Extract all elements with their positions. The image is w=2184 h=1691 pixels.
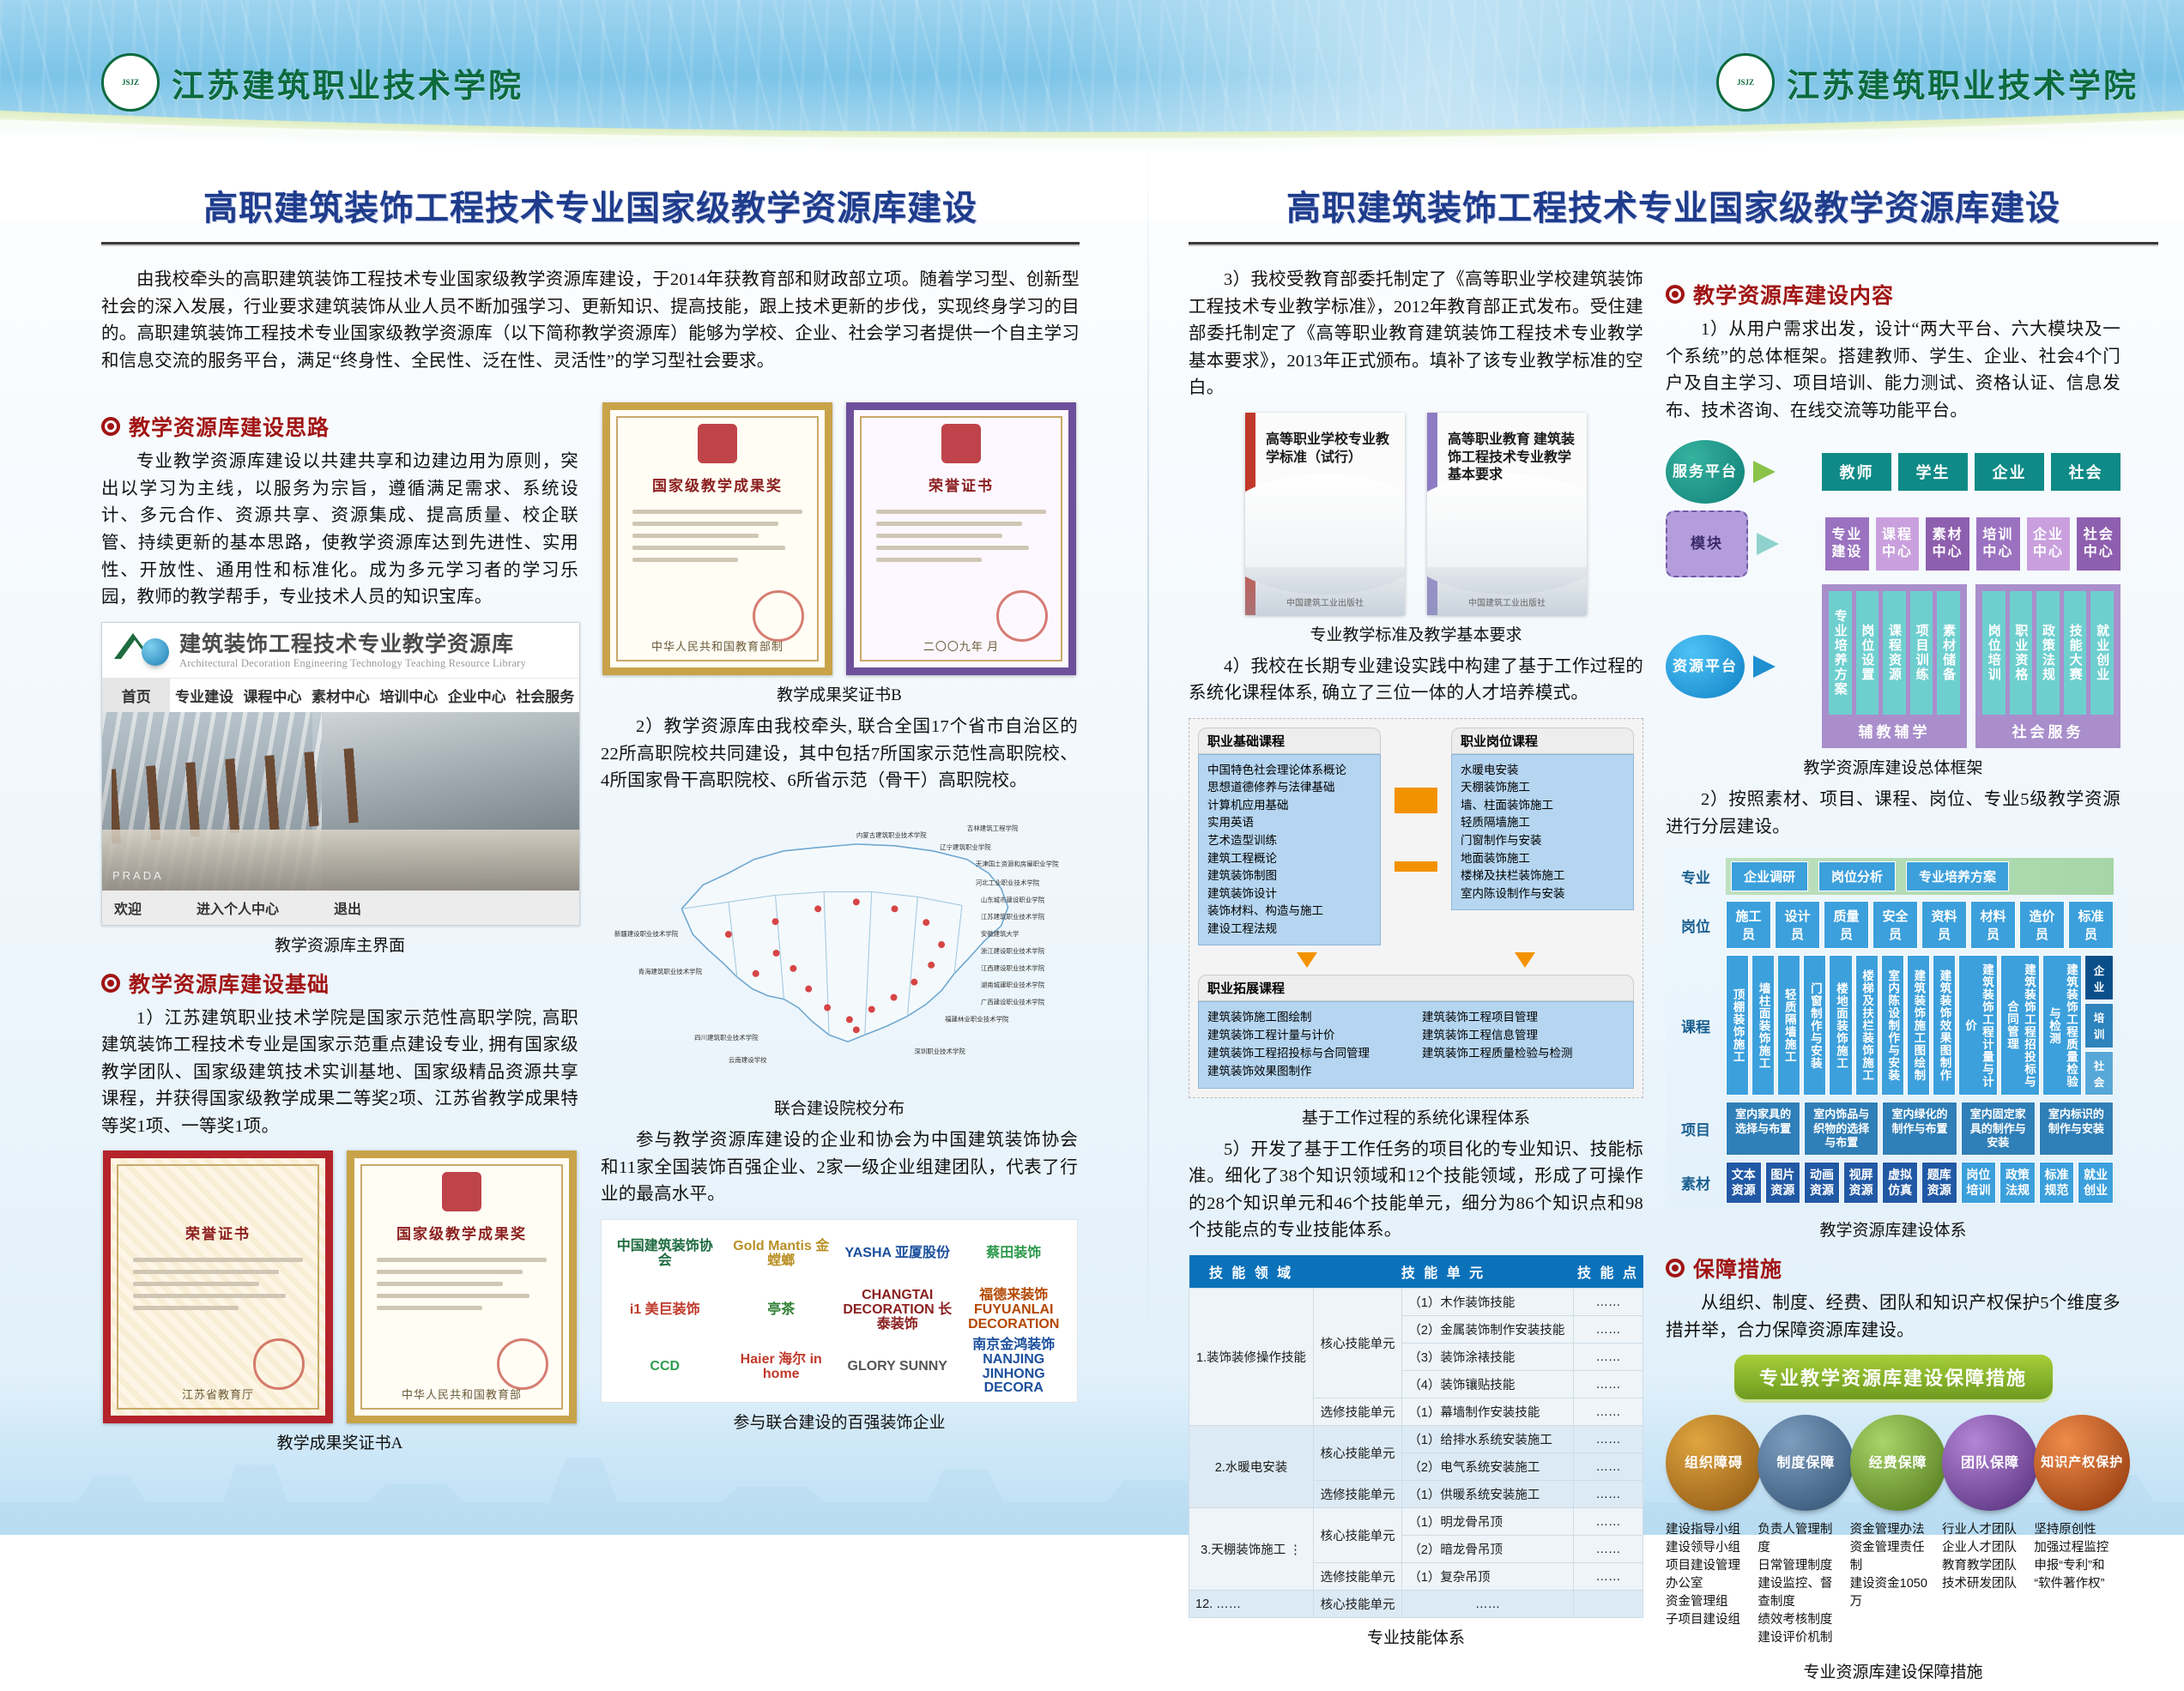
section-heading-content: 教学资源库建设内容: [1666, 279, 2120, 310]
portal-title: 建筑装饰工程技术专业教学资源库: [179, 633, 526, 657]
p5-paragraph: 5）开发了基于工作任务的项目化的专业知识、技能标准。细化了38个知识领域和12个…: [1189, 1137, 1643, 1245]
svg-text:广西建设职业技术学院: 广西建设职业技术学院: [981, 997, 1045, 1006]
course-ext-title: 职业拓展课程: [1198, 975, 1634, 1001]
framework-row-modules: 模块 专业建设 课程中心 素材中心 培训中心 企业中心 社会中心: [1666, 510, 2120, 577]
course-item: 建筑装饰工程项目管理: [1422, 1009, 1624, 1027]
band-cell: 就业创业: [2090, 591, 2114, 715]
section-title-text: 教学资源库建设思路: [129, 411, 330, 442]
project-cell: 室内标识的制作与安装: [2039, 1102, 2114, 1156]
right-col-1: 3）我校受教育部委托制定了《高等职业学校建筑装饰工程技术专业教学标准》，2012…: [1189, 267, 1643, 1691]
section3-body: 2）教学资源库由我校牵头, 联合全国17个省市自治区的22所高职院校共同建设，其…: [601, 714, 1078, 795]
guarantee-caption: 专业资源库建设保障措施: [1666, 1659, 2120, 1682]
course-cell: 墙柱面装饰施工: [1751, 955, 1775, 1096]
course-cell: 楼梯及扶栏装饰施工: [1855, 955, 1878, 1096]
bc-label-major: 专业: [1673, 866, 1719, 887]
svg-text:福建林业职业技术学院: 福建林业职业技术学院: [945, 1014, 1009, 1023]
side-tab: 企业: [2084, 955, 2114, 1000]
portal-nav[interactable]: 首页 专业建设 课程中心 素材中心 培训中心 企业中心 社会服务: [102, 678, 579, 712]
skill-point: （2）电气系统安装施工: [1402, 1453, 1574, 1481]
book-title: 高等职业学校专业教学标准（试行）: [1266, 432, 1394, 468]
arrow-down-icon: [1515, 952, 1535, 968]
book-publisher: 中国建筑工业出版社: [1245, 595, 1405, 608]
certificate-row-b: 国家级教学成果奖 中华人民共和国教育部制 荣誉证书 二〇〇九年 月: [601, 402, 1078, 675]
course-cell: 建筑装饰施工图绘制: [1907, 955, 1930, 1096]
bullseye-icon-2: [101, 974, 120, 993]
svg-text:江西建设职业技术学院: 江西建设职业技术学院: [981, 963, 1045, 972]
material-cell: 虚拟仿真: [1882, 1162, 1918, 1204]
guarantee-item: 制度保障 负责人管理制度 日常管理制度 建设监控、督查制度 绩效考核制度 建设评…: [1757, 1415, 1844, 1647]
skill-point: （1）复杂吊顶: [1402, 1563, 1574, 1591]
certificate-a-caption: 教学成果奖证书A: [101, 1430, 578, 1453]
skills-th-field: 技 能 领 域: [1189, 1255, 1314, 1289]
guarantee-line: 企业人才团队: [1942, 1539, 2029, 1557]
svg-text:新疆建设职业技术学院: 新疆建设职业技术学院: [614, 929, 679, 938]
arrow-lr-icon: [1394, 861, 1437, 872]
nav-item-major[interactable]: 专业建设: [170, 679, 238, 712]
bc-row-material: 素材 文本资源 图片资源 动画资源 视屏资源 虚拟仿真 题库资源 岗位培训 政策…: [1673, 1162, 2114, 1204]
skill-dots: ……: [1574, 1536, 1643, 1563]
certificate-title: 荣誉证书: [854, 474, 1068, 495]
skill-unit: 核心技能单元: [1313, 1508, 1401, 1563]
guarantee-line: 日常管理制度: [1757, 1557, 1844, 1575]
course-cell: 建筑装饰效果图制作: [1933, 955, 1956, 1096]
course-item: 艺术造型训练: [1207, 832, 1373, 850]
partner-logo: i1 美巨装饰: [610, 1287, 720, 1335]
svg-text:河北工业职业技术学院: 河北工业职业技术学院: [976, 878, 1040, 886]
guarantee-line: 资金管理办法: [1850, 1521, 1937, 1539]
course-group-title: 职业基础课程: [1198, 728, 1381, 754]
partners-body: 参与教学资源库建设的企业和协会为中国建筑装饰协会和11家全国装饰百强企业、2家一…: [601, 1127, 1078, 1209]
side-tab: 社会: [2084, 1051, 2114, 1096]
course-item: 建设工程法规: [1207, 921, 1373, 939]
material-cell-right: 政策法规: [1999, 1162, 2036, 1204]
certificate-signature: 中华人民共和国教育部: [354, 1386, 569, 1402]
school-name-right: 江苏建筑职业技术学院: [1787, 59, 2139, 106]
framework-caption: 教学资源库建设总体框架: [1666, 755, 2120, 778]
partner-logo: 蔡田装饰: [959, 1230, 1069, 1278]
skill-point: ……: [1402, 1591, 1574, 1618]
left-columns: 教学资源库建设思路 专业教学资源库建设以共建共享和边建边用为原则，突出以学习为主…: [101, 399, 1080, 1462]
framework-diagram: 服务平台 教师 学生 企业 社会 模块 专业建设 课程中心 素材中: [1666, 435, 2120, 748]
partner-logo: CCD: [610, 1344, 720, 1392]
skill-dots: ……: [1574, 1563, 1643, 1591]
intro-paragraph: 由我校牵头的高职建筑装饰工程技术专业国家级教学资源库建设，于2014年获教育部和…: [101, 267, 1080, 375]
guarantee-line: 建设指导小组: [1666, 1521, 1752, 1539]
book-cover: 高等职业教育 建筑装饰工程技术专业教学基本要求 中国建筑工业出版社: [1427, 413, 1587, 615]
material-cell: 动画资源: [1804, 1162, 1840, 1204]
course-item: 墙、柱面装饰施工: [1461, 797, 1626, 815]
guarantee-line: 建设资金1050万: [1850, 1575, 1937, 1611]
course-item: 装饰材料、构造与施工: [1207, 903, 1373, 921]
map-caption: 联合建设院校分布: [601, 1096, 1078, 1119]
guarantee-section-title: 保障措施: [1693, 1253, 1782, 1283]
certificate-title: 国家级教学成果奖: [610, 474, 825, 495]
course-cell: 轻质隔墙施工: [1777, 955, 1800, 1096]
module-cell: 专业建设: [1825, 517, 1869, 571]
material-cell: 题库资源: [1921, 1162, 1957, 1204]
skill-dots: ……: [1574, 1344, 1643, 1371]
bc-label-course: 课程: [1673, 1015, 1719, 1036]
guarantee-ball: 知识产权保护: [2034, 1415, 2130, 1511]
course-list-post: 水暖电安装 天棚装饰施工 墙、柱面装饰施工 轻质隔墙施工 门窗制作与安装 地面装…: [1451, 754, 1634, 910]
p3-paragraph: 3）我校受教育部委托制定了《高等职业学校建筑装饰工程技术专业教学标准》，2012…: [1189, 267, 1643, 402]
skill-point: （1）木作装饰技能: [1402, 1289, 1574, 1316]
course-item: 计算机应用基础: [1207, 797, 1373, 815]
post-cell: 标准员: [2068, 901, 2114, 949]
guarantee-lines: 行业人才团队 企业人才团队 教育教学团队 技术研发团队: [1942, 1521, 2029, 1593]
project-cell: 室内固定家具的制作与安装: [1961, 1102, 2036, 1156]
framework-tag-resource: 资源平台: [1666, 635, 1745, 698]
nav-item-material[interactable]: 素材中心: [306, 679, 374, 712]
course-item: 室内陈设制作与安装: [1461, 885, 1626, 903]
svg-text:四川建筑职业技术学院: 四川建筑职业技术学院: [694, 1033, 759, 1042]
skill-dots: ……: [1574, 1316, 1643, 1344]
arrow-right-icon: [1757, 533, 1817, 555]
skill-unit: 选修技能单元: [1313, 1398, 1401, 1426]
course-cell: 顶棚装饰施工: [1726, 955, 1749, 1096]
arrow-right-icon: [1753, 655, 1813, 678]
bullseye-icon-4: [1666, 1259, 1685, 1277]
band-cell: 课程资源: [1883, 591, 1906, 715]
right-col-2: 教学资源库建设内容 1）从用户需求出发，设计“两大平台、六大模块及一个系统”的总…: [1666, 267, 2120, 1691]
course-caption: 基于工作过程的系统化课程体系: [1189, 1105, 1643, 1128]
skill-point: （1）供暖系统安装施工: [1402, 1481, 1574, 1508]
guarantee-line: 资金管理责任制: [1850, 1539, 1937, 1575]
guarantee-lines: 负责人管理制度 日常管理制度 建设监控、督查制度 绩效考核制度 建设评价机制: [1757, 1521, 1844, 1647]
china-map: 新疆建设职业技术学院 青海建筑职业技术学院 内蒙古建筑职业技术学院 辽宁建筑职业…: [601, 806, 1078, 1089]
svg-text:青海建筑职业技术学院: 青海建筑职业技术学院: [638, 967, 703, 975]
skill-point: （3）装饰涂裱技能: [1402, 1344, 1574, 1371]
band-cell: 项目训练: [1910, 591, 1933, 715]
project-cell: 室内绿化的制作与布置: [1882, 1102, 1957, 1156]
guarantee-line: 坚持原创性: [2034, 1521, 2120, 1539]
skill-unit: 选修技能单元: [1313, 1481, 1401, 1508]
nav-item-social[interactable]: 社会服务: [511, 679, 579, 712]
flow-step: 专业培养方案: [1906, 861, 2009, 891]
skill-unit: 选修技能单元: [1313, 1563, 1401, 1591]
partner-logo: CHANGTAI DECORATION 长泰装饰: [843, 1287, 953, 1335]
project-cell: 室内饰品与织物的选择与布置: [1804, 1102, 1878, 1156]
course-item: 中国特色社会理论体系概论: [1207, 762, 1373, 780]
skills-table: 技 能 领 域 技 能 单 元 技 能 点 1.装饰装修操作技能 核心技能单元 …: [1189, 1255, 1643, 1618]
bullseye-icon: [101, 417, 120, 436]
side-tab: 培训: [2084, 1003, 2114, 1048]
fr-p3: 从组织、制度、经费、团队和知识产权保护5个维度多措并举，合力保障资源库建设。: [1666, 1290, 2120, 1344]
course-item: 建筑装饰工程质量检验与检测: [1422, 1045, 1624, 1063]
national-emblem-icon: [698, 424, 737, 463]
material-cell-right: 标准规范: [2039, 1162, 2075, 1204]
partner-logo: 亭茶: [727, 1287, 837, 1335]
guarantee-item: 知识产权保护 坚持原创性 加强过程监控 申报“专利”和 “软件著作权”: [2034, 1415, 2120, 1647]
portal-caption: 教学资源库主界面: [101, 933, 578, 956]
module-cells: 专业建设 课程中心 素材中心 培训中心 企业中心 社会中心: [1825, 517, 2120, 571]
title-rule-right: [1189, 242, 2158, 245]
material-cell: 图片资源: [1765, 1162, 1801, 1204]
band-cell: 岗位培训: [1982, 591, 2006, 715]
course-cell: 建筑装饰工程计量与计价: [1958, 955, 1998, 1096]
material-cell: 文本资源: [1726, 1162, 1762, 1204]
section-heading-build-approach: 教学资源库建设思路: [101, 411, 578, 442]
china-map-svg: 新疆建设职业技术学院 青海建筑职业技术学院 内蒙古建筑职业技术学院 辽宁建筑职业…: [601, 806, 1078, 1089]
skill-dots: ……: [1574, 1426, 1643, 1453]
course-item: 建筑装饰制图: [1207, 867, 1373, 885]
footer-logout[interactable]: 退出: [334, 897, 361, 918]
portal-logo-icon: [114, 631, 169, 673]
partner-logo: GLORY SUNNY: [843, 1344, 953, 1392]
guarantee-line: 教育教学团队: [1942, 1557, 2029, 1575]
material-cell: 视屏资源: [1843, 1162, 1879, 1204]
section2-body: 1）江苏建筑职业技术学院是国家示范性高职学院, 高职建筑装饰工程技术专业是国家示…: [101, 1006, 578, 1141]
national-emblem-icon: [941, 424, 981, 463]
section2-title-text: 教学资源库建设基础: [129, 968, 330, 999]
bullseye-icon-3: [1666, 285, 1685, 304]
portal-footer[interactable]: 欢迎 进入个人中心 退出: [102, 891, 579, 925]
material-cell-right: 岗位培训: [1961, 1162, 1997, 1204]
guarantee-bar: 专业教学资源库建设保障措施: [1734, 1355, 2053, 1399]
course-cell: 门窗制作与安装: [1803, 955, 1826, 1096]
books-caption: 专业教学标准及教学基本要求: [1189, 622, 1643, 645]
band-social: 岗位培训 职业资格 政策法规 技能大赛 就业创业 社会服务: [1975, 584, 2120, 748]
certificate-row-a: 荣誉证书 江苏省教育厅 国家级教学成果奖 中华人民共和国教育部: [101, 1150, 578, 1423]
logo-wall-caption: 参与联合建设的百强装饰企业: [601, 1410, 1078, 1433]
svg-text:江苏建筑职业技术学院: 江苏建筑职业技术学院: [981, 912, 1045, 921]
guarantee-line: 资金管理组: [1666, 1593, 1752, 1611]
school-emblem-text-right: JSJZ: [1737, 79, 1754, 87]
national-emblem-icon: [442, 1172, 481, 1211]
svg-text:吉林建筑工程学院: 吉林建筑工程学院: [967, 824, 1019, 832]
certificate-title: 荣誉证书: [111, 1222, 325, 1243]
module-cell: 培训中心: [1976, 517, 2020, 571]
post-cell: 安全员: [1872, 901, 1918, 949]
table-row: 3.天棚装饰施工 ⋮ 核心技能单元 （1）明龙骨吊顶 ……: [1189, 1508, 1643, 1536]
skill-field: 2.水暖电安装: [1189, 1426, 1314, 1508]
course-item: 轻质隔墙施工: [1461, 814, 1626, 832]
course-item: 建筑工程概论: [1207, 850, 1373, 868]
right-panel: 高职建筑装饰工程技术专业国家级教学资源库建设 3）我校受教育部委托制定了《高等职…: [1189, 180, 2158, 1691]
bc-row-course: 课程 顶棚装饰施工 墙柱面装饰施工 轻质隔墙施工 门窗制作与安装 楼地面装饰施工…: [1673, 955, 2114, 1096]
svg-text:深圳职业技术学院: 深圳职业技术学院: [914, 1047, 965, 1055]
arrow-down-icon: [1297, 952, 1317, 968]
guarantee-line: 加强过程监控: [2034, 1539, 2120, 1557]
guarantee-ball: 团队保障: [1942, 1415, 2038, 1511]
portal-header: 建筑装饰工程技术专业教学资源库 Architectural Decoration…: [102, 623, 579, 678]
post-cell: 资料员: [1921, 901, 1967, 949]
svg-text:安徽建筑大学: 安徽建筑大学: [981, 929, 1019, 938]
svg-text:辽宁建筑职业学院: 辽宁建筑职业学院: [940, 842, 991, 851]
guarantee-item: 组织障碍 建设指导小组 建设领导小组 项目建设管理办公室 资金管理组 子项目建设…: [1666, 1415, 1752, 1647]
book-publisher: 中国建筑工业出版社: [1427, 595, 1587, 608]
skill-point: （2）金属装饰制作安装技能: [1402, 1316, 1574, 1344]
svg-text:山东城市建设职业学院: 山东城市建设职业学院: [981, 895, 1045, 903]
certificate-card: 国家级教学成果奖 中华人民共和国教育部制: [602, 402, 832, 675]
course-cell: 建筑装饰工程质量检验与检测: [2042, 955, 2082, 1096]
course-item: 实用英语: [1207, 814, 1373, 832]
down-arrows: [1198, 952, 1634, 968]
certificate-signature: 二〇〇九年 月: [854, 637, 1068, 654]
nav-item-home[interactable]: 首页: [102, 679, 170, 712]
module-cell: 企业中心: [2027, 517, 2071, 571]
column-divider: [1147, 129, 1149, 1347]
framework-tag-module: 模块: [1666, 510, 1748, 577]
svg-text:浙江建设职业技术学院: 浙江建设职业技术学院: [981, 946, 1045, 955]
nav-item-course[interactable]: 课程中心: [239, 679, 306, 712]
post-cell: 造价员: [2019, 901, 2065, 949]
band-cell: 素材储备: [1937, 591, 1960, 715]
table-row: 1.装饰装修操作技能 核心技能单元 （1）木作装饰技能 ……: [1189, 1289, 1643, 1316]
footer-welcome: 欢迎: [114, 897, 142, 918]
bc-row-major: 专业 企业调研 岗位分析 专业培养方案: [1673, 858, 2114, 895]
guarantee-lines: 坚持原创性 加强过程监控 申报“专利”和 “软件著作权”: [2034, 1521, 2120, 1593]
course-group-title: 职业岗位课程: [1451, 728, 1634, 754]
course-cell: 建筑装饰工程招投标与合同管理: [2000, 955, 2040, 1096]
book-cover: 高等职业学校专业教学标准（试行） 中国建筑工业出版社: [1245, 413, 1405, 615]
certificate-card: 荣誉证书 江苏省教育厅: [103, 1150, 333, 1423]
course-item: 楼梯及扶栏装饰施工: [1461, 867, 1626, 885]
svg-text:云南建设学校: 云南建设学校: [729, 1055, 767, 1064]
school-logo-left: JSJZ 江苏建筑职业技术学院: [101, 53, 523, 112]
course-item: 建筑装饰效果图制作: [1207, 1063, 1410, 1081]
skill-field: 3.天棚装饰施工 ⋮: [1189, 1508, 1314, 1591]
skill-point: （1）幕墙制作安装技能: [1402, 1398, 1574, 1426]
poster-title-right: 高职建筑装饰工程技术专业国家级教学资源库建设: [1189, 180, 2158, 230]
portal-cells: 教师 学生 企业 社会: [1822, 453, 2120, 491]
guarantee-line: 建设评价机制: [1757, 1629, 1844, 1647]
hero-brand-sign: PRADA: [112, 869, 164, 882]
certificate-card: 国家级教学成果奖 中华人民共和国教育部: [347, 1150, 577, 1423]
certificate-signature: 江苏省教育厅: [111, 1386, 325, 1402]
skill-dots: [1574, 1591, 1643, 1618]
framework-tag-service: 服务平台: [1666, 440, 1745, 504]
course-item: 建筑装饰工程信息管理: [1422, 1027, 1624, 1045]
flow-step: 企业调研: [1731, 861, 1808, 891]
certificate-signature: 中华人民共和国教育部制: [610, 637, 825, 654]
project-cell: 室内家具的选择与布置: [1726, 1102, 1800, 1156]
course-item: 水暖电安装: [1461, 762, 1626, 780]
right-columns: 3）我校受教育部委托制定了《高等职业学校建筑装饰工程技术专业教学标准》，2012…: [1189, 267, 2158, 1691]
title-rule-left: [101, 242, 1080, 245]
bc-row-project: 项目 室内家具的选择与布置 室内饰品与织物的选择与布置 室内绿化的制作与布置 室…: [1673, 1102, 2114, 1156]
svg-text:天津国土资源和房屋职业学院: 天津国土资源和房屋职业学院: [976, 860, 1059, 868]
certificate-title: 国家级教学成果奖: [354, 1222, 569, 1243]
guarantee-line: 技术研发团队: [1942, 1575, 2029, 1593]
skills-th-unit: 技 能 单 元: [1313, 1255, 1573, 1289]
band-cell: 技能大赛: [2064, 591, 2087, 715]
poster-title-left: 高职建筑装饰工程技术专业国家级教学资源库建设: [101, 180, 1080, 230]
guarantee-lines: 资金管理办法 资金管理责任制 建设资金1050万: [1850, 1521, 1937, 1611]
band-cell: 专业培养方案: [1829, 591, 1852, 715]
school-name-left: 江苏建筑职业技术学院: [172, 59, 523, 106]
bc-label-post: 岗位: [1673, 915, 1719, 936]
nav-item-training[interactable]: 培训中心: [375, 679, 443, 712]
course-item: 建筑装饰工程招投标与合同管理: [1207, 1045, 1410, 1063]
guarantee-balls: 组织障碍 建设指导小组 建设领导小组 项目建设管理办公室 资金管理组 子项目建设…: [1666, 1415, 2120, 1647]
guarantee-ball: 经费保障: [1850, 1415, 1946, 1511]
partner-logo: 中国建筑装饰协会: [610, 1230, 720, 1278]
guarantee-line: 建设监控、督查制度: [1757, 1575, 1844, 1611]
skill-point: （1）给排水系统安装施工: [1402, 1426, 1574, 1453]
partner-logo: Gold Mantis 金螳螂: [727, 1230, 837, 1278]
standards-books: 高等职业学校专业教学标准（试行） 中国建筑工业出版社 高等职业教育 建筑装饰工程…: [1189, 413, 1643, 615]
section-heading-build-basis: 教学资源库建设基础: [101, 968, 578, 999]
course-cell: 室内陈设制作与安装: [1881, 955, 1904, 1096]
svg-text:湖南城建职业技术学院: 湖南城建职业技术学院: [981, 981, 1045, 989]
section-heading-guarantee: 保障措施: [1666, 1253, 2120, 1283]
course-ext-col2: 建筑装饰工程项目管理 建筑装饰工程信息管理 建筑装饰工程质量检验与检测: [1422, 1009, 1624, 1081]
portal-cell: 学生: [1898, 453, 1968, 491]
school-emblem-icon: JSJZ: [101, 53, 160, 112]
guarantee-item: 经费保障 资金管理办法 资金管理责任制 建设资金1050万: [1850, 1415, 1937, 1647]
resource-hierarchy-diagram: 专业 企业调研 岗位分析 专业培养方案 岗位 施工员 设计员 质量员 安全员 资…: [1666, 851, 2120, 1211]
table-row: 12. …… 核心技能单元 ……: [1189, 1591, 1643, 1618]
bidirectional-arrows: [1394, 728, 1437, 872]
section1-body: 专业教学资源库建设以共建共享和边建边用为原则，突出以学习为主线，以服务为宗旨，遵…: [101, 449, 578, 611]
course-item: 建筑装饰施工图绘制: [1207, 1009, 1410, 1027]
portal-cell: 社会: [2051, 453, 2120, 491]
guarantee-line: 项目建设管理办公室: [1666, 1557, 1752, 1593]
certificate-card: 荣誉证书 二〇〇九年 月: [846, 402, 1076, 675]
school-emblem-text: JSJZ: [122, 79, 139, 87]
far-right-section1-title: 教学资源库建设内容: [1693, 279, 1894, 310]
course-cell: 楼地面装饰施工: [1829, 955, 1852, 1096]
course-item: 建筑装饰设计: [1207, 885, 1373, 903]
guarantee-line: 绩效考核制度: [1757, 1611, 1844, 1629]
skill-dots: ……: [1574, 1453, 1643, 1481]
band-label: 辅教辅学: [1829, 720, 1960, 741]
fr-p2: 2）按照素材、项目、课程、岗位、专业5级教学资源进行分层建设。: [1666, 787, 2120, 841]
post-cell: 施工员: [1726, 901, 1771, 949]
arrow-lr-icon: [1394, 788, 1437, 813]
guarantee-line: 行业人才团队: [1942, 1521, 2029, 1539]
partner-logo: 福德来装饰 FUYUANLAI DECORATION: [959, 1287, 1069, 1335]
school-emblem-icon-right: JSJZ: [1716, 53, 1775, 112]
bc-label-project: 项目: [1673, 1118, 1719, 1139]
module-cell: 课程中心: [1876, 517, 1920, 571]
resource-portal-screenshot[interactable]: 建筑装饰工程技术专业教学资源库 Architectural Decoration…: [101, 622, 580, 926]
module-cell: 素材中心: [1926, 517, 1969, 571]
portal-subtitle: Architectural Decoration Engineering Tec…: [179, 657, 526, 670]
book-title: 高等职业教育 建筑装饰工程技术专业教学基本要求: [1448, 432, 1576, 485]
framework-row-service: 服务平台 教师 学生 企业 社会: [1666, 440, 2120, 504]
band-teaching: 专业培养方案 岗位设置 课程资源 项目训练 素材储备 辅教辅学: [1822, 584, 1967, 748]
arrow-right-icon: [1753, 461, 1813, 483]
skills-th-point: 技 能 点: [1574, 1255, 1643, 1289]
nav-item-enterprise[interactable]: 企业中心: [443, 679, 511, 712]
post-cell: 设计员: [1775, 901, 1820, 949]
skill-point: （2）暗龙骨吊顶: [1402, 1536, 1574, 1563]
skill-point: （1）明龙骨吊顶: [1402, 1508, 1574, 1536]
band-cell: 政策法规: [2036, 591, 2060, 715]
framework-row-resource: 资源平台 专业培养方案 岗位设置 课程资源 项目训练 素材储备 辅教辅学: [1666, 584, 2120, 748]
guarantee-line: 申报“专利”和: [2034, 1557, 2120, 1575]
portal-cell: 企业: [1975, 453, 2044, 491]
flow-step: 岗位分析: [1818, 861, 1896, 891]
guarantee-ball: 制度保障: [1757, 1415, 1854, 1511]
module-cell: 社会中心: [2077, 517, 2120, 571]
portal-cell: 教师: [1822, 453, 1891, 491]
footer-personal-center[interactable]: 进入个人中心: [197, 897, 279, 918]
skill-dots: ……: [1574, 1371, 1643, 1398]
skill-field: 1.装饰装修操作技能: [1189, 1289, 1314, 1426]
course-system-diagram: 职业基础课程 中国特色社会理论体系概论 思想道德修养与法律基础 计算机应用基础 …: [1189, 718, 1643, 1098]
partner-logo-wall: 中国建筑装饰协会 Gold Mantis 金螳螂 YASHA 亚厦股份 蔡田装饰…: [601, 1219, 1078, 1403]
post-cell: 质量员: [1824, 901, 1869, 949]
guarantee-line: “软件著作权”: [2034, 1575, 2120, 1593]
skill-dots: ……: [1574, 1398, 1643, 1426]
course-item: 思想道德修养与法律基础: [1207, 779, 1373, 797]
material-cell-right: 就业创业: [2078, 1162, 2114, 1204]
p4-paragraph: 4）我校在长期专业建设实践中构建了基于工作过程的系统化课程体系, 确立了三位一体…: [1189, 654, 1643, 708]
skill-unit: 核心技能单元: [1313, 1289, 1401, 1398]
